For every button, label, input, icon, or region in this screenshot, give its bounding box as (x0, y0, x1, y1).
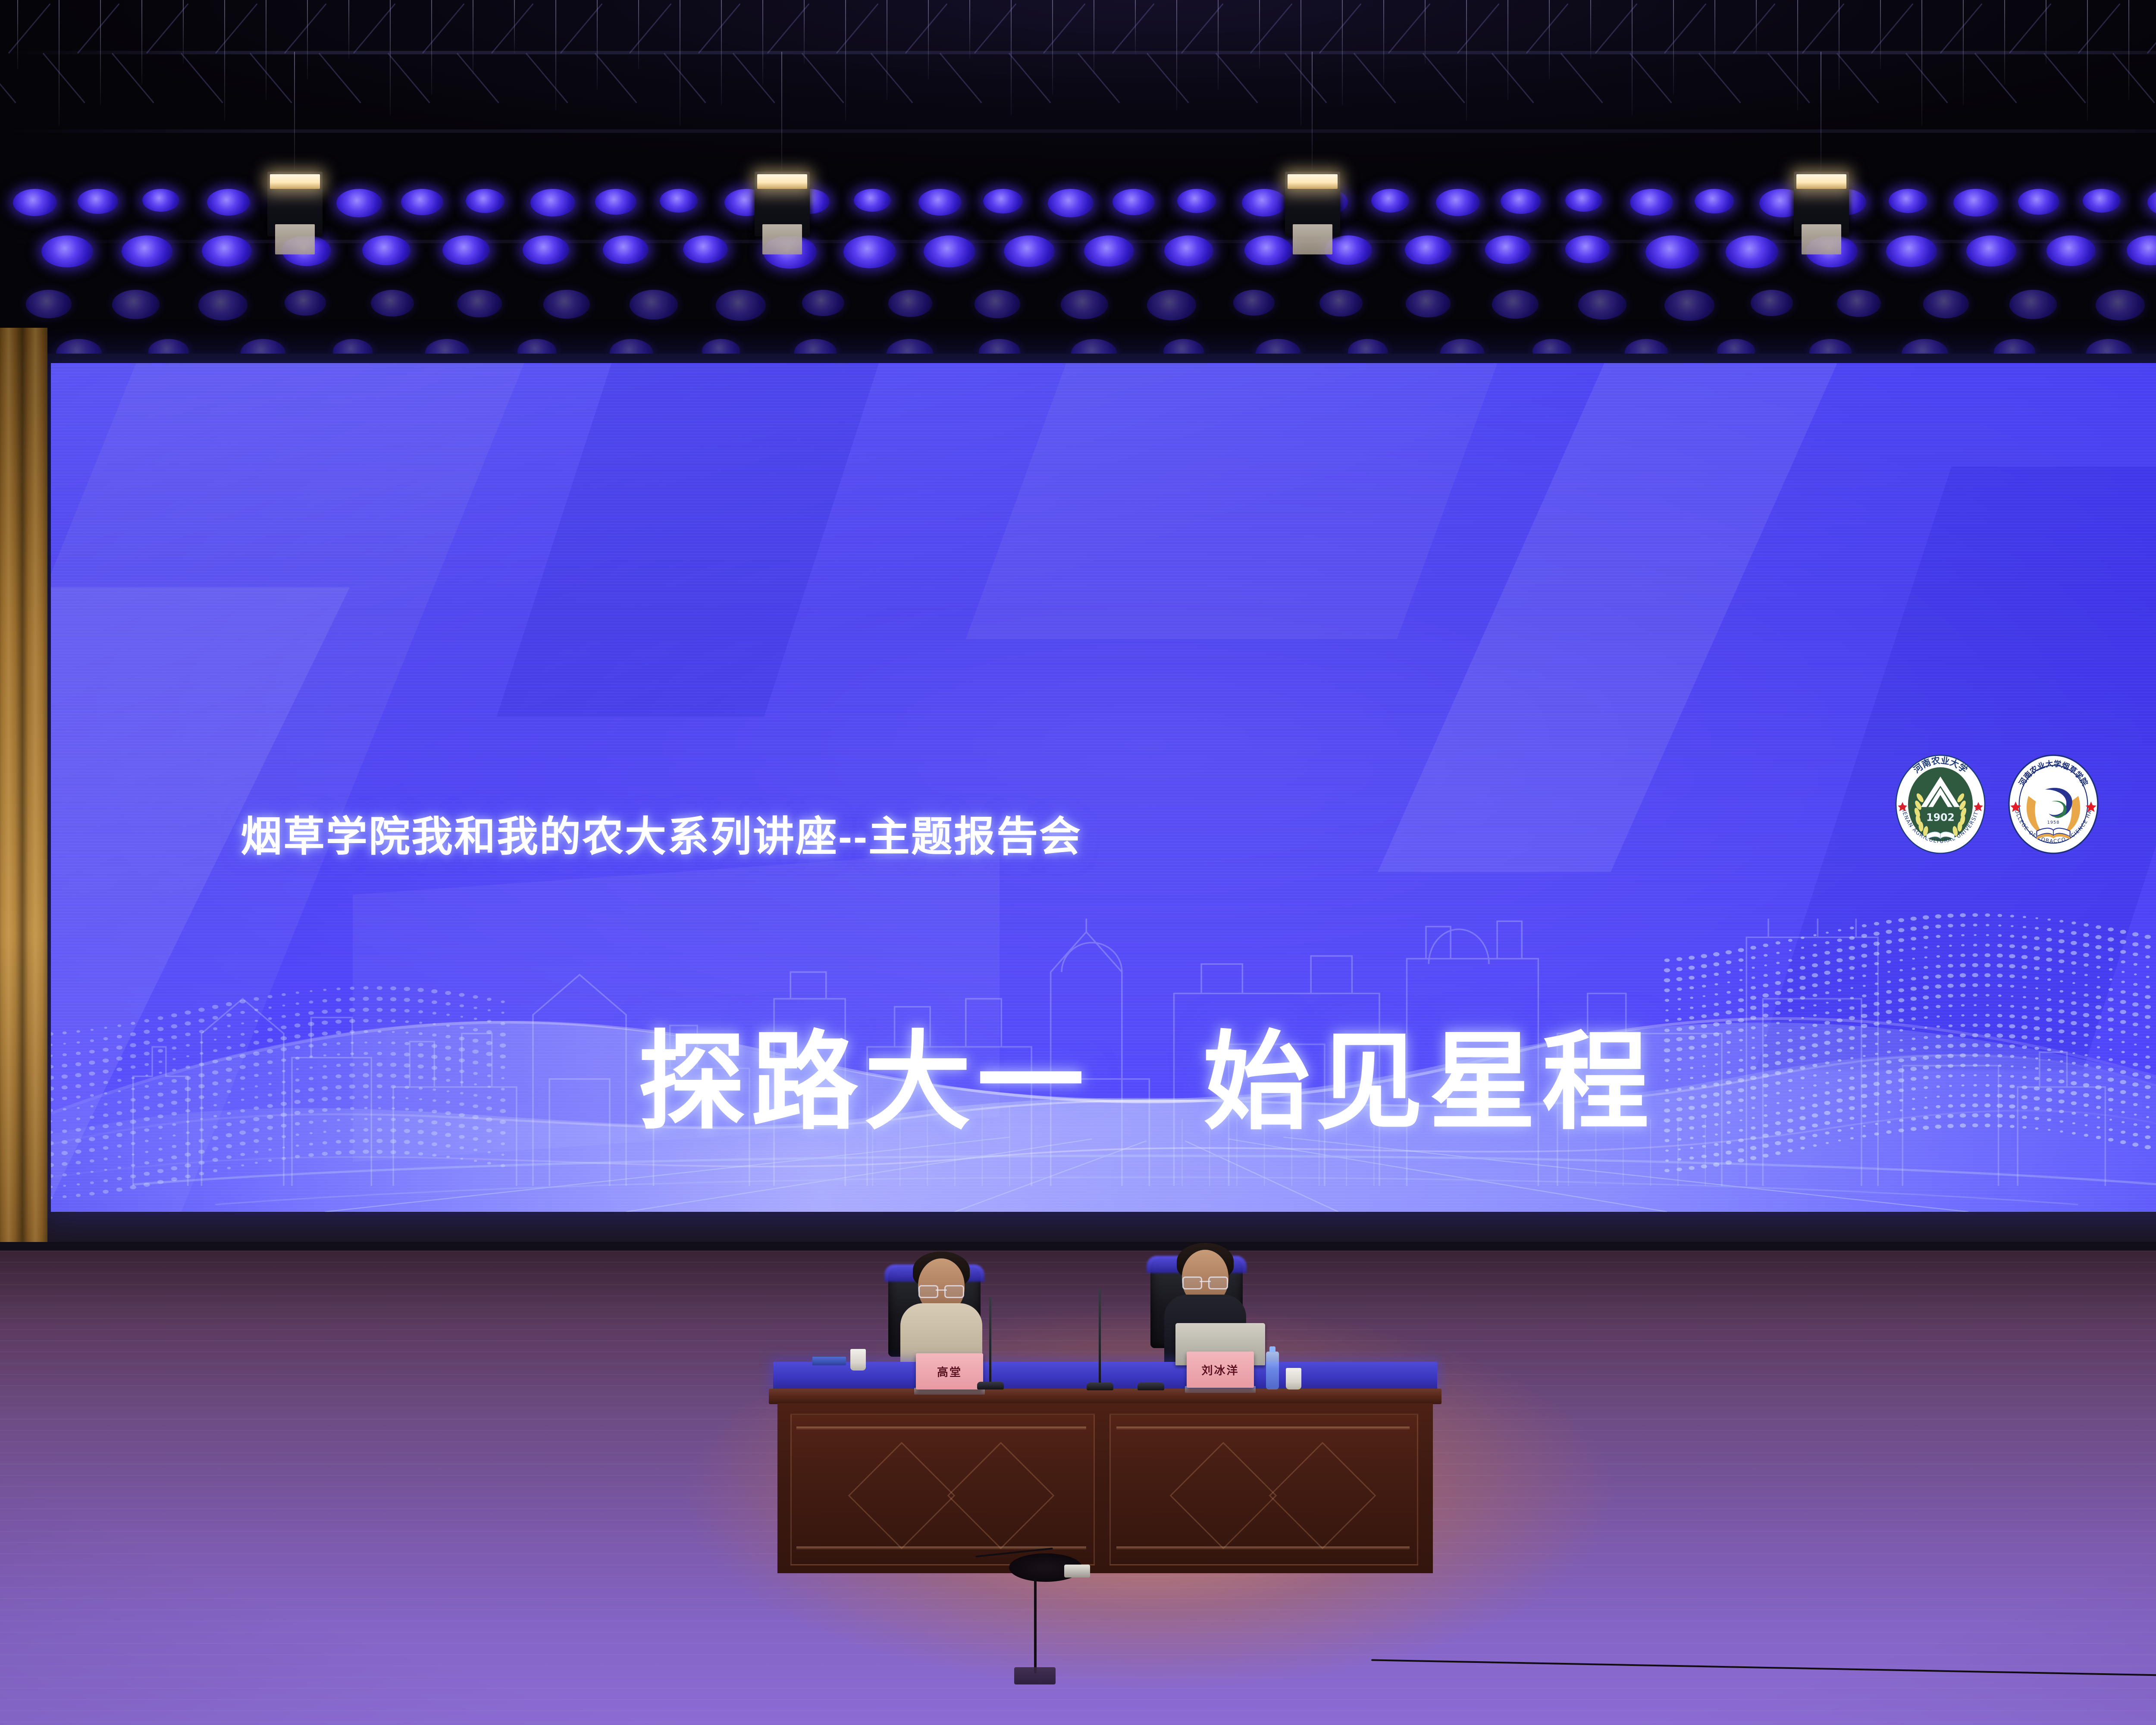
slide-main-title: 探路大一 始见星程 (51, 995, 2156, 1150)
paper-cup-right (1286, 1368, 1301, 1389)
microphone-right-base (1138, 1383, 1164, 1390)
microphone-left-base (977, 1382, 1004, 1389)
power-strip[interactable] (1064, 1565, 1090, 1578)
auditorium-scene: 烟草学院我和我的农大系列讲座--主题报告会 探路大一 始见星程 刘冰洋 博士 2… (0, 0, 2156, 1725)
nameplate-left[interactable]: 高堂 (916, 1353, 983, 1389)
booklet-left (812, 1357, 846, 1365)
nameplate-left-text: 高堂 (937, 1364, 962, 1380)
table-front-panel (777, 1403, 1433, 1573)
floor-cable-anchor (1014, 1667, 1056, 1684)
microphone-center-base (1087, 1383, 1113, 1390)
college-of-tobacco-science-logo: 河南农业大学烟草学院 COLLEGE OF TOBACCO SCIENCE HA… (2007, 753, 2100, 855)
glasses-icon (918, 1285, 964, 1295)
podium-table (773, 1362, 1437, 1573)
slide-logo-group: 河南农业大学 HENAN AGRICULTURAL UNIVERSITY (1894, 753, 2100, 855)
table-edge-lip (769, 1389, 1442, 1404)
glasses-icon (1182, 1276, 1228, 1287)
slide-surface: 烟草学院我和我的农大系列讲座--主题报告会 探路大一 始见星程 刘冰洋 博士 2… (51, 363, 2156, 1212)
svg-text:1902: 1902 (1926, 812, 1955, 824)
floor-cable-drop (1034, 1578, 1037, 1673)
paper-cup-left (850, 1349, 866, 1371)
henan-agricultural-university-logo: 河南农业大学 HENAN AGRICULTURAL UNIVERSITY (1894, 753, 1987, 855)
slide-header-text: 烟草学院我和我的农大系列讲座--主题报告会 (241, 803, 1082, 863)
microphone-center-stem (1099, 1289, 1101, 1389)
ceiling-truss-rig (0, 0, 2156, 371)
svg-text:1958: 1958 (2047, 820, 2060, 825)
nameplate-right-text: 刘冰洋 (1201, 1362, 1239, 1378)
led-screen[interactable]: 烟草学院我和我的农大系列讲座--主题报告会 探路大一 始见星程 刘冰洋 博士 2… (51, 363, 2156, 1212)
water-bottle[interactable] (1266, 1352, 1279, 1389)
microphone-left-stem (989, 1297, 991, 1389)
nameplate-right[interactable]: 刘冰洋 (1187, 1352, 1254, 1388)
